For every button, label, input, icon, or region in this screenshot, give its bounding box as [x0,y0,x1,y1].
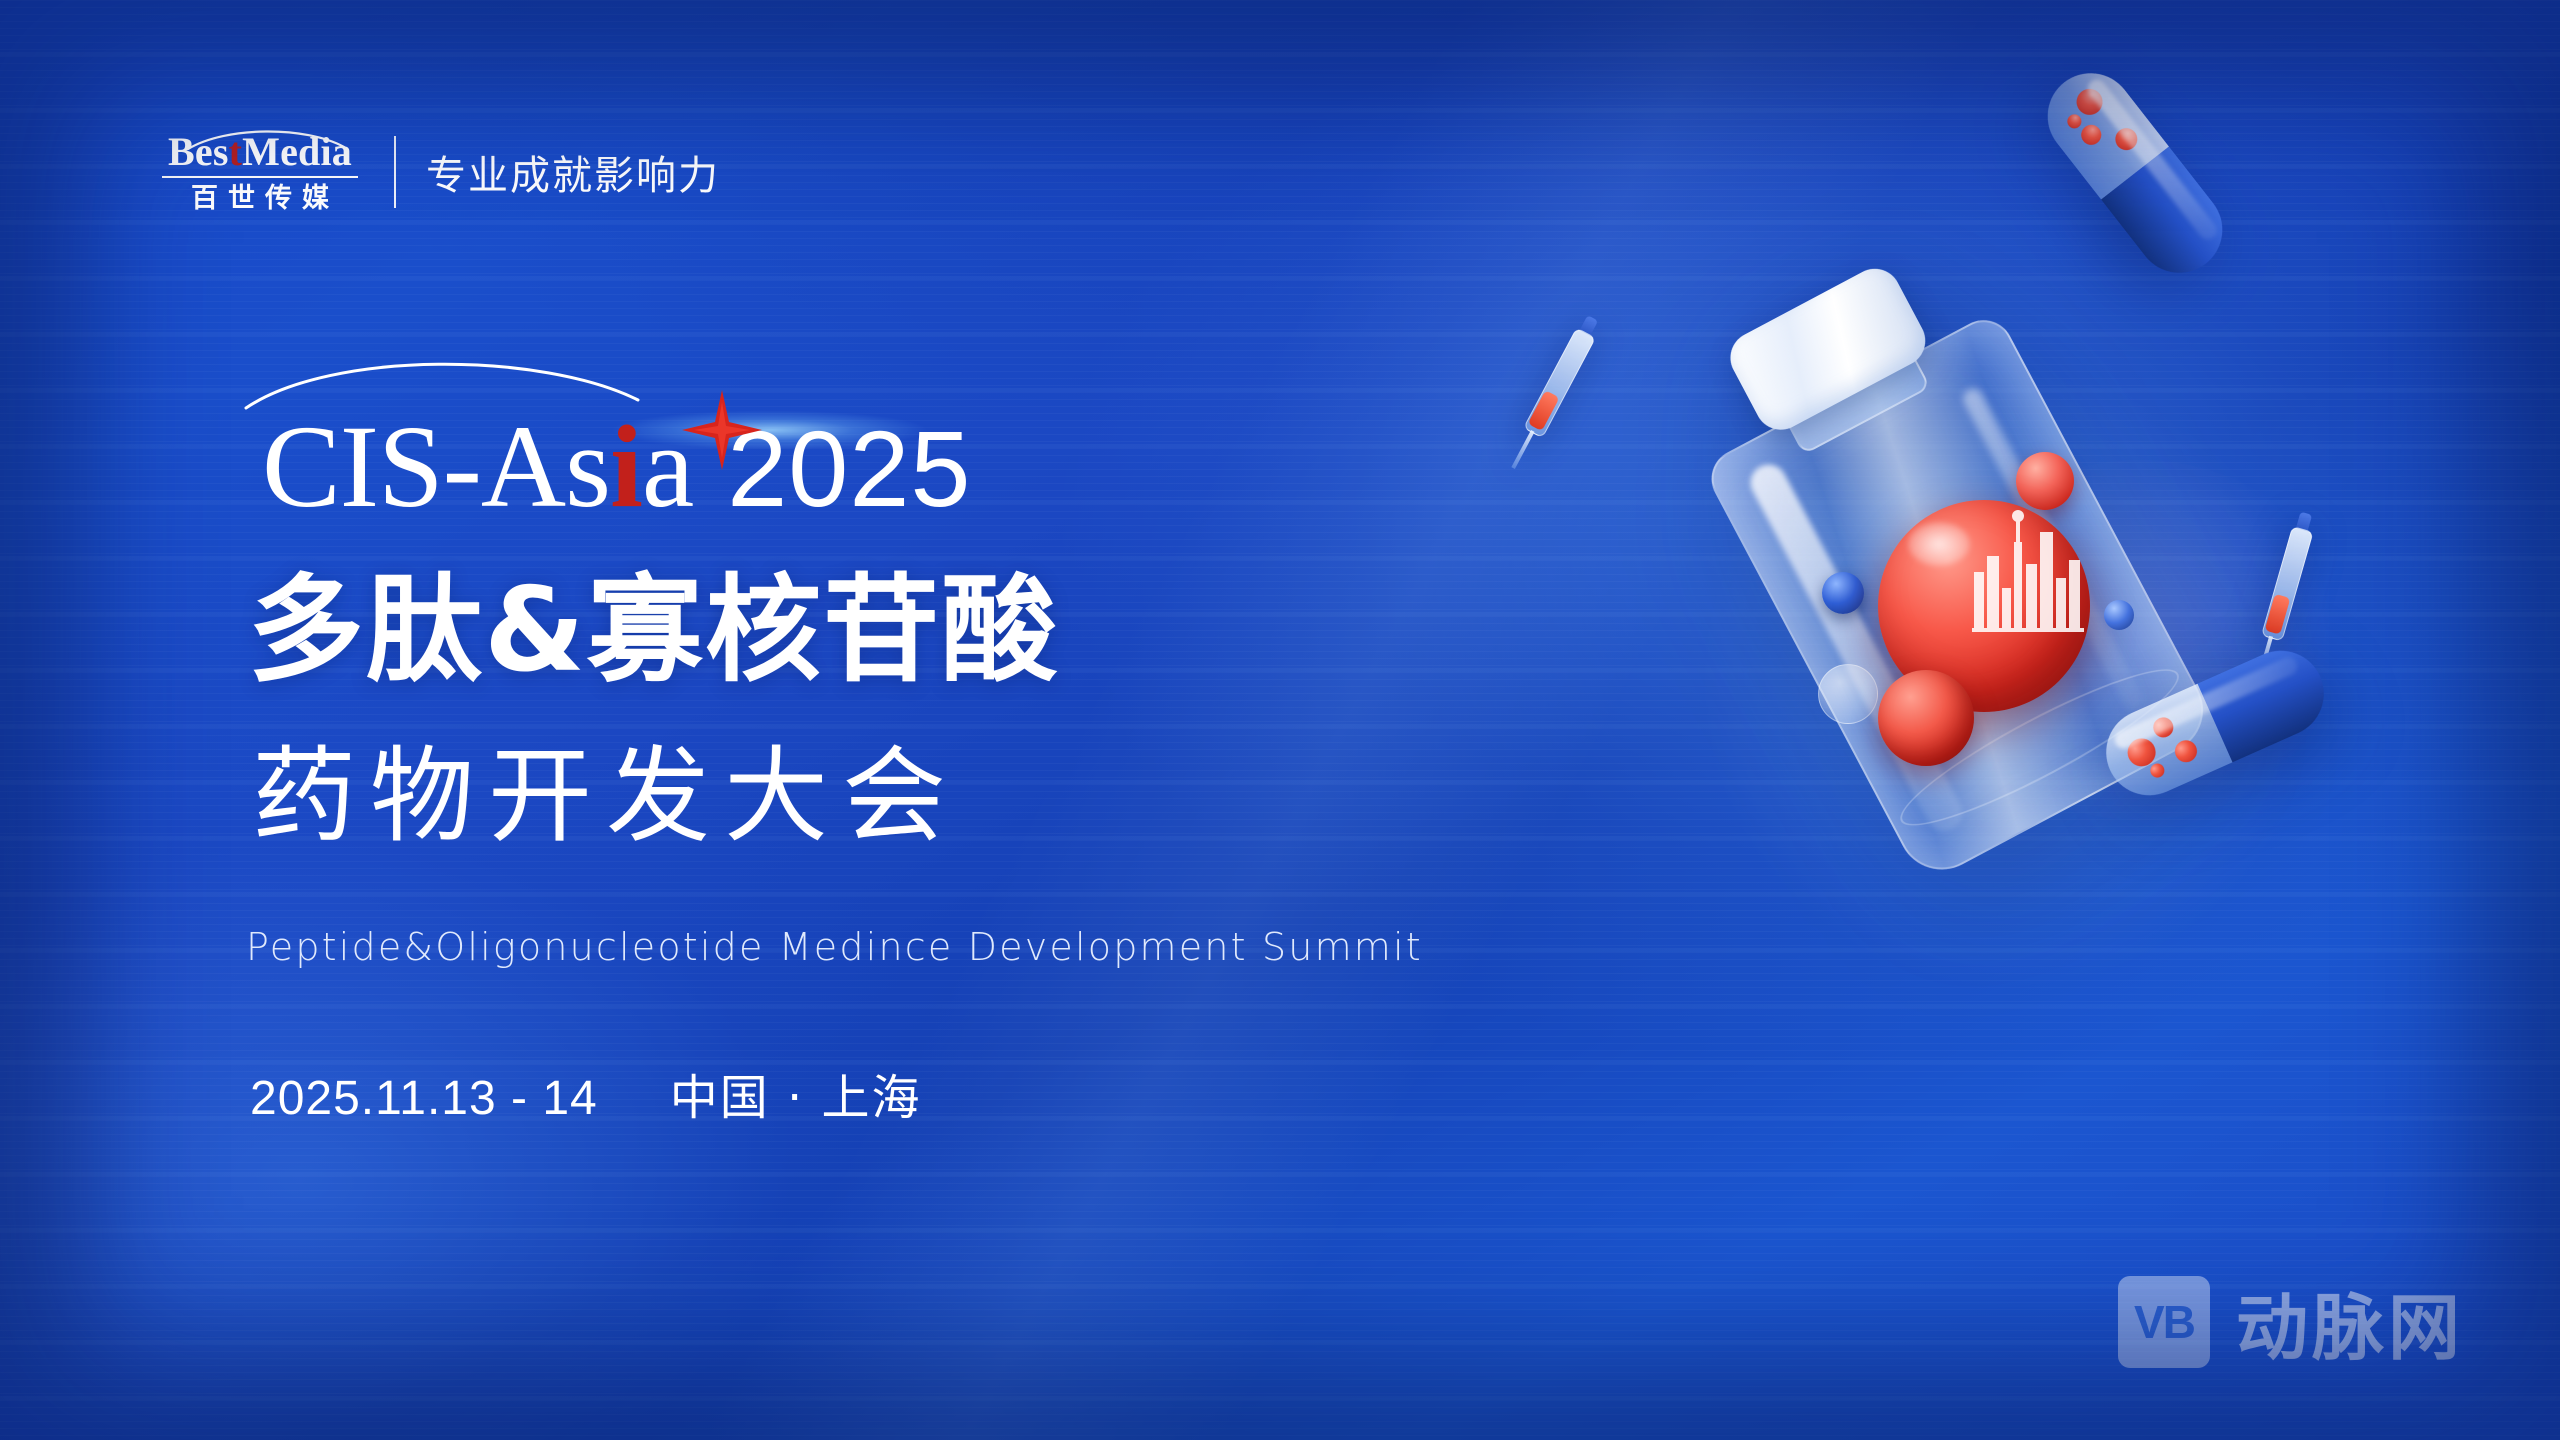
event-title-line: CIS-Asia 2025 [262,408,972,526]
title-i-accent: i [610,401,642,532]
logo-chinese-name: 百世传媒 [160,182,360,216]
shanghai-skyline-icon [1972,502,2084,632]
blue-molecule-dot [1822,572,1864,614]
event-year: 2025 [727,415,971,523]
logo-wordmark: BestMedia [160,132,360,172]
conference-banner: BestMedia 百世传媒 专业成就影响力 CIS-Asia 2025 多肽&… [0,0,2560,1440]
headline-primary: 多肽&寡核苷酸 [248,568,1059,693]
syringe-needle [1511,430,1534,469]
red-sphere-secondary [1878,670,1974,766]
clear-molecule-dot [1818,664,1878,724]
title-prefix: CIS-As [262,401,610,532]
logo-rule [162,176,358,178]
watermark-badge: VB [2118,1276,2210,1368]
event-title: CIS-Asia 2025 [262,408,972,540]
logo-word-t-accent: t [229,129,243,174]
event-venue: 中国 · 上海 [670,1058,922,1128]
headline-secondary: 药物开发大会 [252,740,960,852]
product-artwork [1500,60,2560,1380]
brand-tagline: 专业成就影响力 [426,143,720,201]
logo-word-before: Bes [168,129,229,174]
blue-molecule-dot-small [2104,600,2134,630]
capsule-pill-icon [2030,56,2239,290]
watermark: VB 动脉网 [2118,1269,2464,1374]
subtitle-english: Peptide&Oligonucleotide Medince Developm… [246,925,1423,969]
watermark-text: 动脉网 [2236,1269,2464,1374]
title-suffix: a [642,401,693,532]
syringe-icon [1502,312,1605,474]
event-date: 2025.11.13 - 14 [250,1071,598,1126]
event-meta: 2025.11.13 - 14 中国 · 上海 [250,1058,922,1128]
brand-logo[interactable]: BestMedia 百世传媒 专业成就影响力 [160,126,720,218]
vertical-divider-icon [394,136,396,208]
logo-mark: BestMedia 百世传媒 [160,126,360,218]
arc-icon [242,346,642,412]
logo-word-after: Media [242,129,352,174]
event-title-main: CIS-Asia [262,408,693,526]
